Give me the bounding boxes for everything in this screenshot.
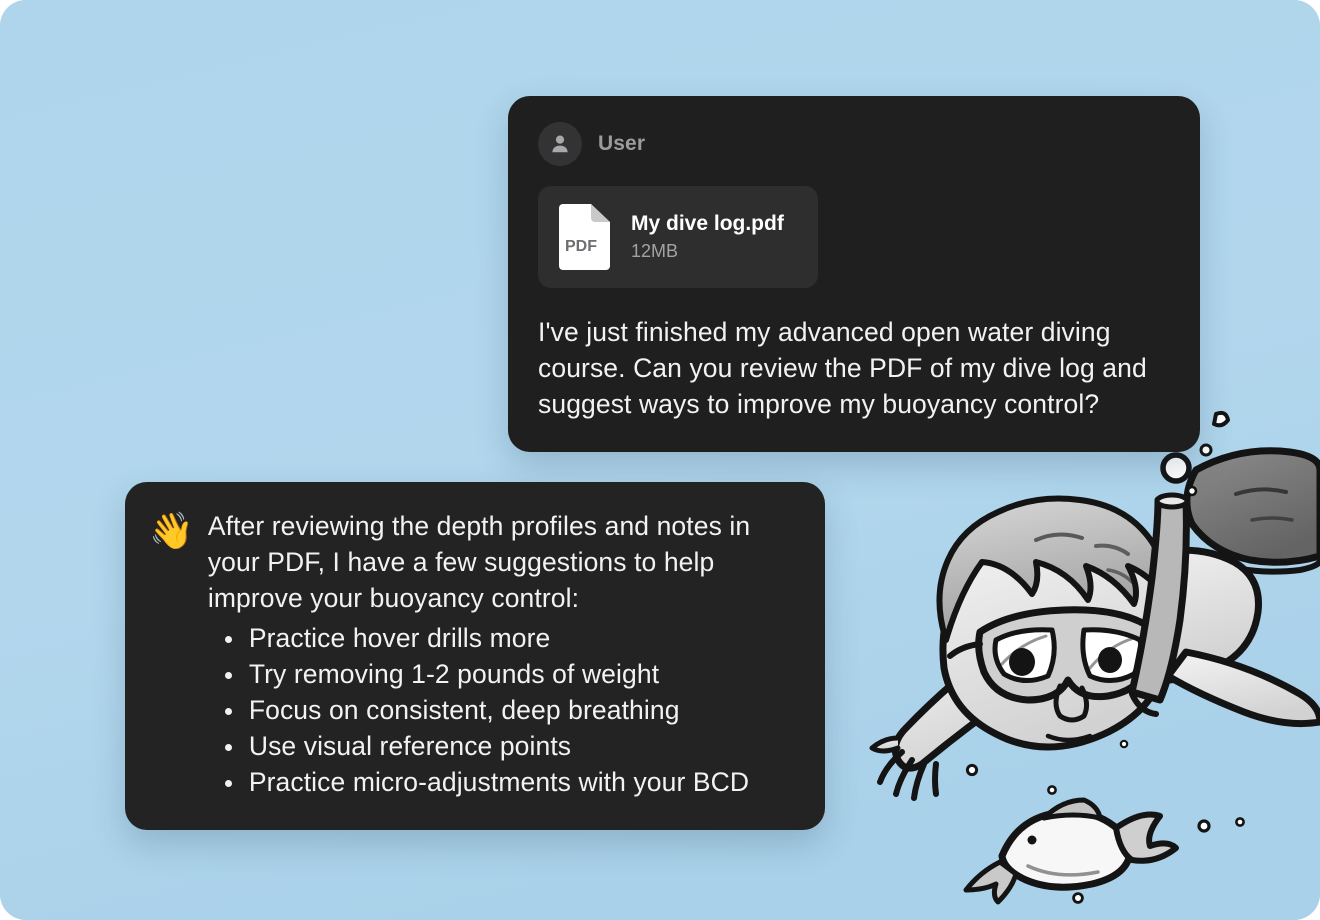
assistant-body: After reviewing the depth profiles and n… [208, 508, 795, 800]
pdf-file-icon: PDF [556, 202, 613, 272]
sender-name: User [598, 132, 645, 156]
waving-hand-icon: 👋 [149, 511, 194, 551]
user-message-text: I've just finished my advanced open wate… [538, 314, 1170, 422]
svg-text:PDF: PDF [565, 238, 597, 255]
user-message-bubble: User PDF My dive log.pdf 12MB I've just … [508, 96, 1200, 452]
assistant-intro-text: After reviewing the depth profiles and n… [208, 508, 795, 616]
list-item: Focus on consistent, deep breathing [208, 692, 795, 728]
file-meta: My dive log.pdf 12MB [631, 212, 784, 262]
attachment-card[interactable]: PDF My dive log.pdf 12MB [538, 186, 818, 288]
file-size: 12MB [631, 241, 784, 262]
list-item: Try removing 1-2 pounds of weight [208, 656, 795, 692]
assistant-message-bubble: 👋 After reviewing the depth profiles and… [125, 482, 825, 830]
message-header: User [538, 122, 1170, 166]
suggestion-list: Practice hover drills more Try removing … [208, 620, 795, 800]
page-root: User PDF My dive log.pdf 12MB I've just … [0, 0, 1320, 920]
file-name: My dive log.pdf [631, 212, 784, 236]
user-avatar-icon [538, 122, 582, 166]
list-item: Use visual reference points [208, 728, 795, 764]
list-item: Practice hover drills more [208, 620, 795, 656]
list-item: Practice micro-adjustments with your BCD [208, 764, 795, 800]
